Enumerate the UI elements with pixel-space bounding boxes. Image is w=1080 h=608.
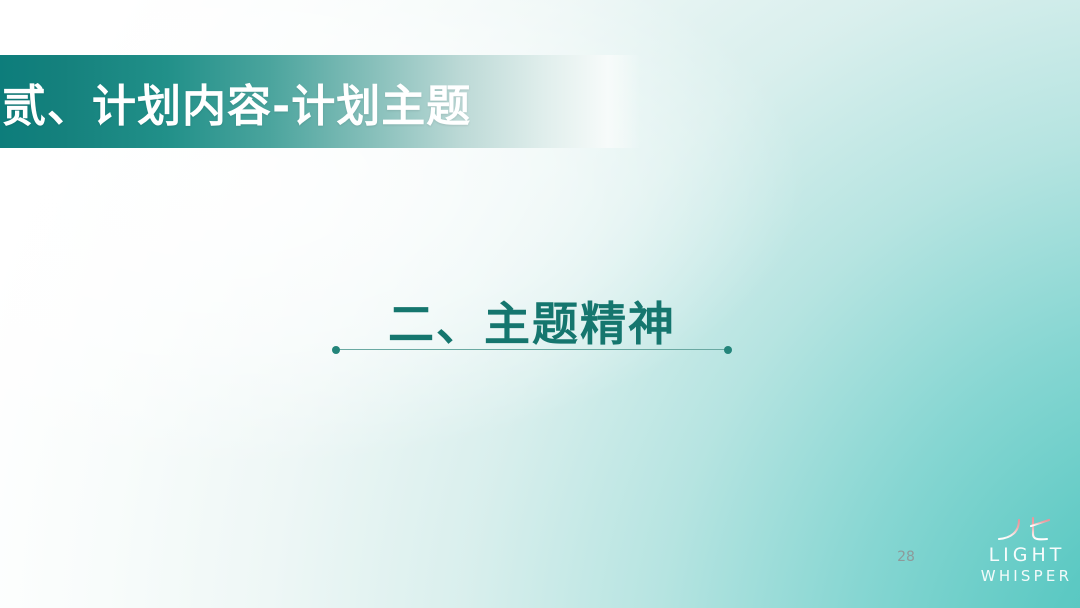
page-number: 28 xyxy=(893,549,919,565)
brand-wordmark-line1: LIGHT xyxy=(975,544,1075,566)
divider-line xyxy=(336,349,728,350)
slide-canvas: 贰、计划内容-计划主题 二、主题精神 28 xyxy=(0,0,1080,608)
divider-dot-right xyxy=(724,346,732,354)
light-whisper-mark-icon xyxy=(975,476,1075,546)
header-title: 贰、计划内容-计划主题 xyxy=(0,55,640,148)
section-title: 二、主题精神 xyxy=(332,288,732,354)
brand-wordmark-line2: WHISPER xyxy=(975,566,1075,586)
divider-dot-left xyxy=(332,346,340,354)
brand-logo: LIGHT WHISPER xyxy=(975,476,1075,594)
brand-wordmark: LIGHT WHISPER xyxy=(975,544,1075,586)
section-title-divider xyxy=(332,349,732,351)
